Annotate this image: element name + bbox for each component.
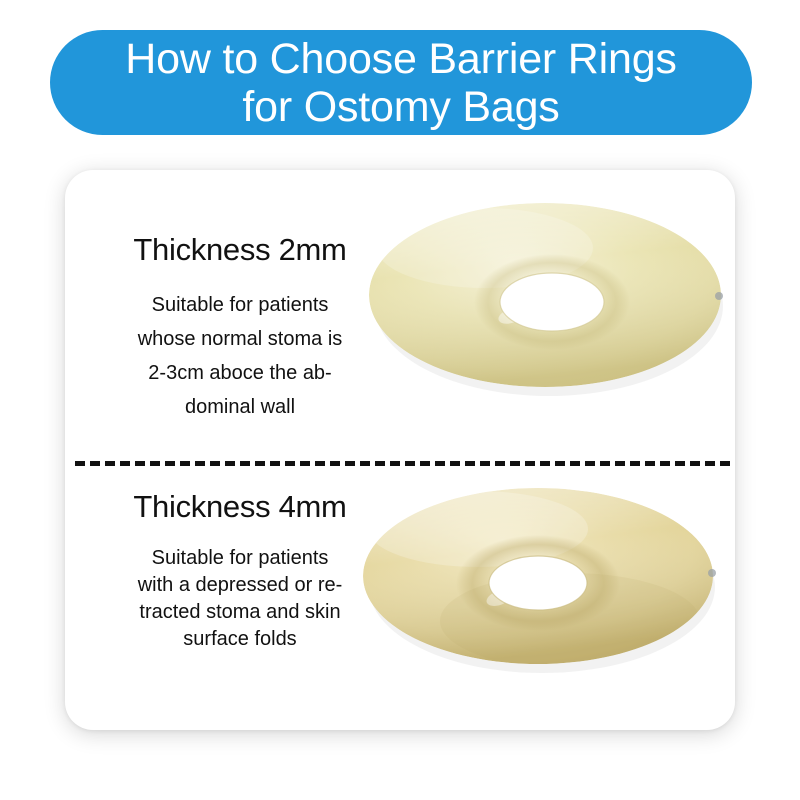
barrier-ring-2mm-image	[365, 190, 725, 405]
section-2mm-body: Suitable for patients whose normal stoma…	[75, 288, 405, 424]
section-4mm-text-column: Thickness 4mm Suitable for patients with…	[75, 489, 405, 653]
content-card: Thickness 2mm Suitable for patients whos…	[65, 170, 735, 730]
page-title: How to Choose Barrier Rings for Ostomy B…	[125, 35, 676, 131]
section-4mm-body: Suitable for patients with a depressed o…	[75, 545, 405, 653]
infographic-root: How to Choose Barrier Rings for Ostomy B…	[0, 0, 800, 800]
section-2mm-heading: Thickness 2mm	[75, 232, 405, 268]
barrier-ring-2mm-icon	[365, 190, 725, 405]
section-thickness-4mm: Thickness 4mm Suitable for patients with…	[65, 451, 735, 731]
barrier-ring-4mm-image	[360, 481, 725, 681]
barrier-ring-4mm-icon	[360, 481, 725, 681]
title-banner: How to Choose Barrier Rings for Ostomy B…	[50, 30, 752, 135]
section-2mm-text-column: Thickness 2mm Suitable for patients whos…	[75, 232, 405, 424]
section-thickness-2mm: Thickness 2mm Suitable for patients whos…	[65, 170, 735, 450]
section-4mm-heading: Thickness 4mm	[75, 489, 405, 525]
